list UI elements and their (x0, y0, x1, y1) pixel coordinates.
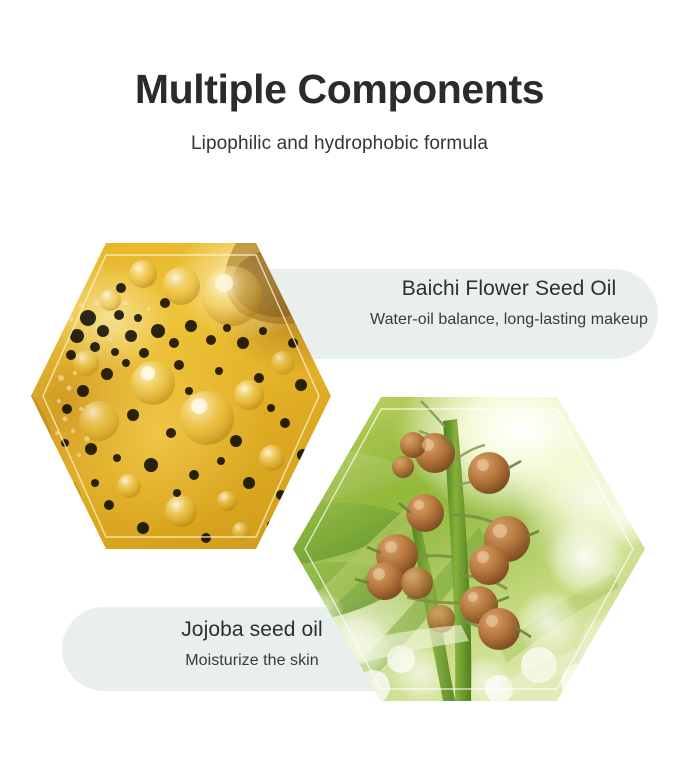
card-baichi-title: Baichi Flower Seed Oil (360, 276, 658, 302)
card-baichi-subtitle: Water-oil balance, long-lasting makeup (360, 302, 658, 331)
infographic-canvas: Multiple Components Lipophilic and hydro… (0, 0, 679, 766)
page-title: Multiple Components (0, 68, 679, 111)
page-subtitle: Lipophilic and hydrophobic formula (0, 111, 679, 155)
card-baichi-text: Baichi Flower Seed Oil Water-oil balance… (360, 276, 658, 331)
header: Multiple Components Lipophilic and hydro… (0, 68, 679, 155)
